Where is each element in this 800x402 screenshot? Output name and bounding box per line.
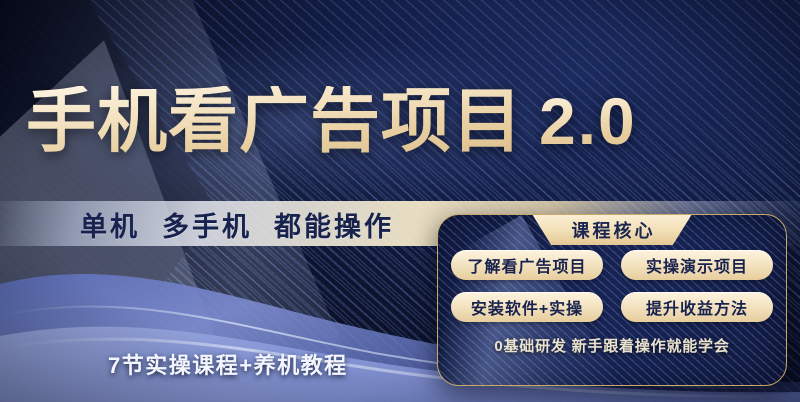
panel-tab-label: 课程核心 [569,217,656,243]
feature-pill[interactable]: 了解看广告项目 [451,250,603,280]
course-core-panel: 课程核心 了解看广告项目 实操演示项目 安装软件+实操 提升收益方法 0基础研发… [437,214,787,386]
subtitle-part-1: 单机 [80,205,140,244]
subtitle-part-3: 都能操作 [274,205,394,244]
headline-main-text: 手机看广告项目 [26,86,523,156]
feature-pill[interactable]: 实操演示项目 [621,250,773,280]
headline: 手机看广告项目 2.0 [26,78,726,164]
panel-tab: 课程核心 [532,214,692,245]
subtitle: 单机 多手机 都能操作 [80,203,394,245]
feature-pill-grid: 了解看广告项目 实操演示项目 安装软件+实操 提升收益方法 [451,250,773,322]
feature-pill[interactable]: 安装软件+实操 [451,292,603,322]
course-count-caption: 7节实操课程+养机教程 [108,348,348,380]
feature-pill[interactable]: 提升收益方法 [621,292,773,322]
subtitle-part-2: 多手机 [162,205,252,244]
headline-version-text: 2.0 [539,88,637,154]
panel-footer-text: 0基础研发 新手跟着操作就能学会 [494,335,729,356]
promo-poster: 手机看广告项目 2.0 单机 多手机 都能操作 7节实操课程+养机教程 课程核心… [0,0,800,402]
